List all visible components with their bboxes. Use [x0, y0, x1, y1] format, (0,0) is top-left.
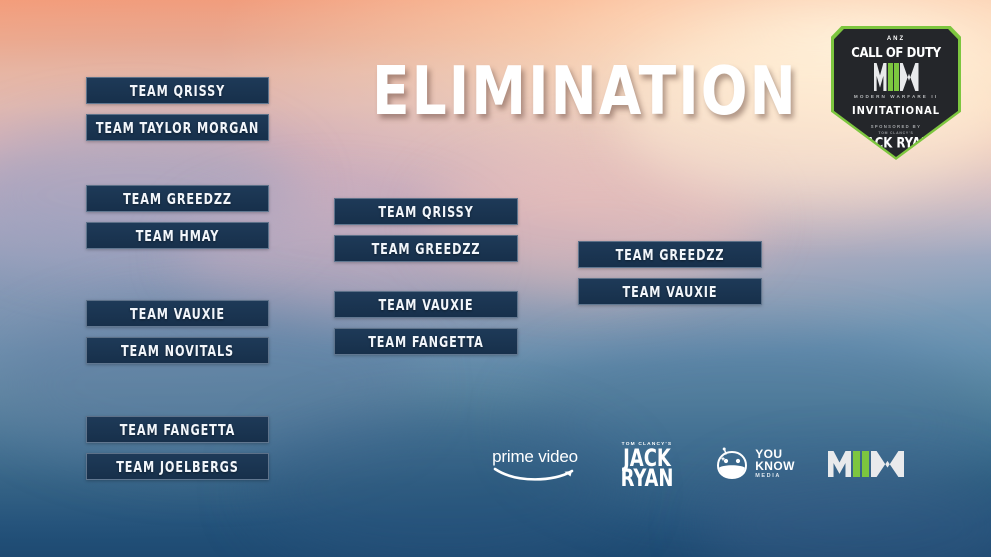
team-name: TEAM VAUXIE — [130, 305, 225, 323]
bracket-team-box[interactable]: TEAM GREEDZZ — [86, 185, 269, 212]
mwii-m-glyph-icon — [828, 451, 851, 477]
bracket-team-box[interactable]: TEAM VAUXIE — [334, 291, 518, 318]
mwii-bar-icon — [853, 451, 860, 477]
team-name: TEAM GREEDZZ — [372, 240, 481, 258]
badge-event-name: INVITATIONAL — [852, 104, 940, 117]
broadcast-bracket-screen: ELIMINATION TEAM QRISSY TEAM TAYLOR MORG… — [0, 0, 991, 557]
jack-ryan-line2: RYAN — [621, 468, 674, 488]
team-name: TEAM QRISSY — [130, 82, 225, 100]
badge-content: ANZ CALL OF DUTY MODERN WARFARE II INVIT… — [834, 29, 958, 157]
team-name: TEAM VAUXIE — [379, 296, 474, 314]
amazon-smile-icon — [492, 466, 578, 482]
team-name: TEAM NOVITALS — [121, 342, 234, 360]
sponsor-strip: prime video TOM CLANCY'S JACK RYAN Y — [485, 436, 905, 492]
bracket-team-box[interactable]: TEAM GREEDZZ — [334, 235, 518, 262]
team-name: TEAM GREEDZZ — [616, 246, 725, 264]
badge-game-title: CALL OF DUTY — [851, 46, 940, 62]
bracket-team-box[interactable]: TEAM NOVITALS — [86, 337, 269, 364]
badge-sponsored-label: SPONSORED BY — [871, 124, 922, 129]
badge-game-subtitle: MODERN WARFARE II — [854, 94, 938, 99]
bracket-team-box[interactable]: TEAM HMAY — [86, 222, 269, 249]
team-name: TEAM QRISSY — [378, 203, 473, 221]
team-name: TEAM TAYLOR MORGAN — [96, 119, 259, 137]
you-know-line3: MEDIA — [755, 473, 781, 479]
page-title: ELIMINATION — [372, 57, 780, 126]
bracket-team-box[interactable]: TEAM QRISSY — [334, 198, 518, 225]
mwii-logo-icon — [874, 63, 919, 91]
you-know-line2: KNOW — [755, 460, 795, 472]
bracket-team-box[interactable]: TEAM TAYLOR MORGAN — [86, 114, 269, 141]
prime-video-label: prime video — [492, 447, 578, 467]
sponsor-prime-video: prime video — [485, 447, 585, 482]
you-know-media-text: YOU KNOW MEDIA — [755, 449, 795, 479]
team-name: TEAM JOELBERGS — [116, 458, 239, 476]
badge-region: ANZ — [887, 36, 905, 42]
team-name: TEAM HMAY — [136, 227, 220, 245]
bracket-team-box[interactable]: TEAM GREEDZZ — [578, 241, 762, 268]
sponsor-jack-ryan: TOM CLANCY'S JACK RYAN — [611, 442, 683, 487]
bracket-team-box[interactable]: TEAM FANGETTA — [334, 328, 518, 355]
badge-sponsor-name: JACK RYAN — [861, 135, 930, 152]
team-name: TEAM GREEDZZ — [123, 190, 232, 208]
bracket-team-box[interactable]: TEAM VAUXIE — [578, 278, 762, 305]
mwii-w-glyph-icon — [871, 451, 904, 477]
team-name: TEAM FANGETTA — [368, 333, 484, 351]
team-name: TEAM VAUXIE — [623, 283, 718, 301]
event-logo-badge: ANZ CALL OF DUTY MODERN WARFARE II INVIT… — [831, 26, 961, 160]
bracket-team-box[interactable]: TEAM QRISSY — [86, 77, 269, 104]
bracket-team-box[interactable]: TEAM JOELBERGS — [86, 453, 269, 480]
sponsor-mwii — [827, 451, 905, 477]
bracket-team-box[interactable]: TEAM VAUXIE — [86, 300, 269, 327]
robot-head-icon — [715, 447, 749, 481]
mwii-bar-icon — [862, 451, 869, 477]
bracket-team-box[interactable]: TEAM FANGETTA — [86, 416, 269, 443]
sponsor-you-know-media: YOU KNOW MEDIA — [709, 447, 801, 481]
team-name: TEAM FANGETTA — [120, 421, 236, 439]
